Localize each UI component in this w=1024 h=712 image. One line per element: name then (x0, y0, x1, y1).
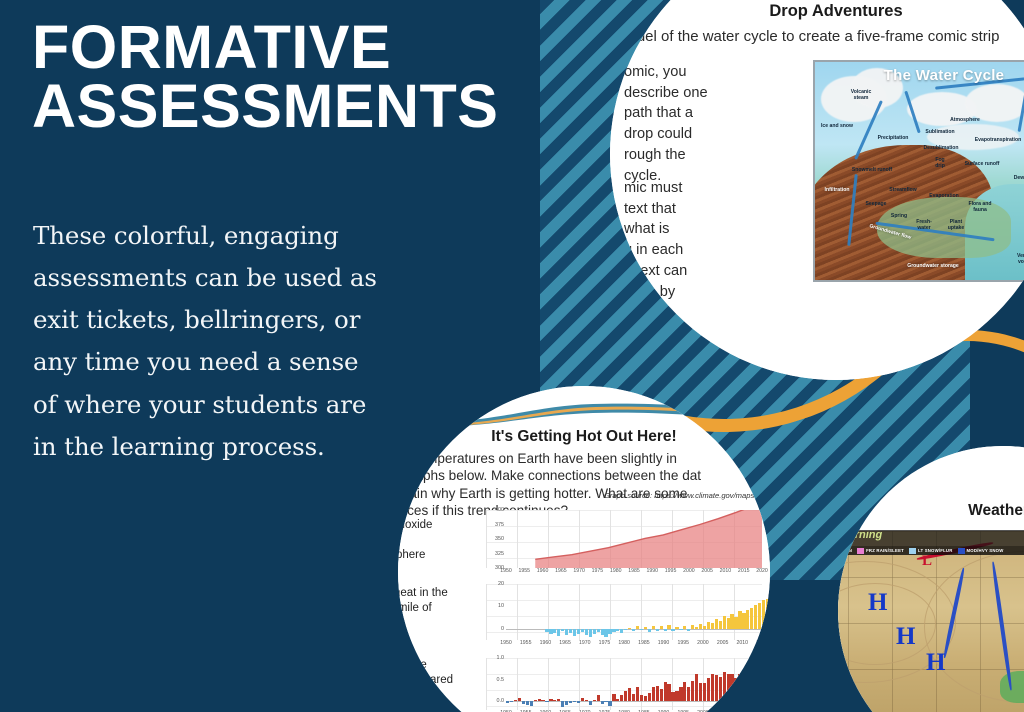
weather-map: H H H L L L orning MOD/HVY RAINFRZ RAIN/… (838, 530, 1024, 712)
bar (660, 626, 663, 628)
bar (719, 677, 722, 701)
bar (545, 701, 548, 702)
x-tick-label: 1980 (610, 568, 622, 574)
page-title-line1: FORMATIVE (32, 13, 391, 81)
bar (628, 628, 631, 629)
high-pressure-marker: H (926, 649, 945, 677)
bar (585, 700, 588, 701)
bar (750, 674, 753, 701)
label-surface-runoff: Surface runoff (961, 162, 1003, 168)
graph-source-citation: Graph source: https://www.climate.gov/ma… (604, 491, 754, 500)
bar (581, 629, 584, 633)
bar (616, 629, 619, 631)
chart-y-axis: 0.00.51.0 (486, 658, 506, 710)
bar (569, 629, 572, 633)
bar (644, 627, 647, 629)
bar (506, 701, 509, 703)
bar (577, 701, 580, 703)
bar (648, 629, 651, 632)
chart-y-axis: 300325350375400 (486, 510, 506, 568)
bar (719, 621, 722, 629)
x-tick-label: 2010 (737, 640, 749, 646)
bar (561, 629, 564, 632)
worksheet-title-weather-forecast: Weather Forecast (858, 502, 1024, 520)
worksheet-body-line: the temperatures on Earth have been slig… (398, 450, 770, 467)
bar (597, 695, 600, 701)
x-tick-label: 1975 (599, 640, 611, 646)
x-tick-label: 1985 (628, 568, 640, 574)
y-tick-label: 0.0 (497, 698, 505, 704)
bar (687, 687, 690, 702)
bar (703, 626, 706, 629)
worksheet-intro-text: model of the water cycle to create a fiv… (616, 28, 1024, 47)
label-spring: Spring (887, 214, 911, 220)
low-pressure-marker: L (922, 553, 932, 570)
bar (640, 629, 643, 630)
x-tick-label: 1950 (500, 640, 512, 646)
bar (738, 674, 741, 701)
bar (632, 694, 635, 702)
bar (734, 617, 737, 629)
label-freshwater: Fresh-water (911, 220, 937, 231)
y-tick-label: 375 (495, 522, 504, 528)
bar (593, 629, 596, 634)
bar (715, 675, 718, 701)
bar (565, 629, 568, 635)
x-tick-label: 2015 (756, 640, 768, 646)
x-tick-label: 1960 (537, 568, 549, 574)
bar (534, 700, 537, 702)
bar (656, 686, 659, 702)
page-title: FORMATIVE ASSESSMENTS (32, 18, 602, 135)
worksheet-thumbnail-weather[interactable]: Weather Forecast H H H (838, 446, 1024, 712)
bar (699, 624, 702, 629)
bar (667, 625, 670, 629)
x-tick-label: 1970 (573, 568, 585, 574)
bar (695, 627, 698, 628)
worksheet-page: It's Getting Hot Out Here! the temperatu… (398, 386, 770, 712)
bar (746, 676, 749, 701)
poster-canvas: FORMATIVE ASSESSMENTS These colorful, en… (0, 0, 1024, 712)
x-tick-label: 1955 (520, 640, 532, 646)
x-tick-label: 1995 (665, 568, 677, 574)
high-pressure-marker: H (896, 623, 915, 651)
bar (608, 701, 611, 705)
legend-label: FRZ RAIN/SLEET (866, 548, 904, 553)
legend-swatch (958, 548, 965, 554)
x-tick-label: 1980 (618, 640, 630, 646)
chart-ocean-heat-content: 01020 1950195519601965197019751980198519… (486, 584, 762, 640)
label-atmosphere: Atmosphere (943, 118, 987, 124)
area-series (506, 510, 762, 568)
bar (620, 629, 623, 633)
bar (671, 692, 674, 702)
legend-label: LT SNOW/FLUR (918, 548, 953, 553)
bar (608, 629, 611, 634)
legend-label: MOD/HVY RAIN (838, 548, 852, 553)
bar (699, 683, 702, 701)
worksheet-title-getting-hot: It's Getting Hot Out Here! (398, 428, 770, 446)
worksheet-thumbnail-climate[interactable]: It's Getting Hot Out Here! the temperatu… (398, 386, 770, 712)
water-cycle-diagram-title: The Water Cycle (815, 67, 1024, 84)
intro-paragraph: These colorful, engaging assessments can… (33, 215, 383, 468)
label-vents-and-volcanos: Vents and volcanos (1011, 254, 1024, 265)
x-tick-label: 2015 (738, 568, 750, 574)
bar (758, 669, 761, 701)
bar (754, 673, 757, 702)
bar (581, 698, 584, 701)
bar (742, 671, 745, 701)
chart-co2-concentration: 300325350375400 195019551960196519701975… (486, 510, 762, 568)
y-tick-label: 400 (495, 507, 504, 513)
bar (577, 629, 580, 634)
bar (601, 701, 604, 704)
bar (683, 626, 686, 629)
x-tick-label: 2010 (720, 568, 732, 574)
chart-plot-area (506, 510, 762, 568)
x-tick-label: 1985 (638, 640, 650, 646)
x-tick-label: 2020 (756, 568, 768, 574)
bar (573, 629, 576, 637)
chart-y-axis: 01020 (486, 584, 506, 640)
x-tick-label: 2000 (683, 568, 695, 574)
bar (660, 689, 663, 701)
legend-item: MOD/HVY SNOW (958, 548, 1004, 554)
bar (664, 629, 667, 631)
x-tick-label: 1990 (647, 568, 659, 574)
bar (766, 658, 769, 701)
bar (557, 629, 560, 636)
bar (565, 701, 568, 704)
bar (569, 701, 572, 702)
bar (679, 629, 682, 630)
bar (675, 627, 678, 629)
bar (730, 614, 733, 628)
label-dew: Dew (1011, 176, 1024, 182)
bar (553, 629, 556, 633)
legend-swatch (857, 548, 864, 554)
bar (620, 695, 623, 702)
y-tick-label: 0.5 (497, 677, 505, 683)
bar (656, 629, 659, 631)
bar (514, 700, 517, 701)
label-sublimation: Sublimation (923, 130, 957, 136)
bar (573, 701, 576, 702)
x-tick-label: 2000 (697, 640, 709, 646)
bar (601, 629, 604, 635)
water-cycle-diagram: The Water Cycle Volcanic steam Ice and s… (813, 60, 1024, 282)
bar (530, 701, 533, 705)
chart-x-axis: 1950195519601965197019751980198519901995… (506, 640, 762, 649)
bar (624, 691, 627, 702)
label-flora-and-fauna: Flora and fauna (963, 202, 997, 213)
bar (723, 616, 726, 629)
bar (691, 625, 694, 629)
bar (727, 674, 730, 701)
bar (711, 623, 714, 629)
bar (597, 629, 600, 632)
bar (585, 629, 588, 635)
worksheet-column-text-1: omic, you describe one path that a drop … (624, 62, 774, 186)
bar (553, 700, 556, 702)
bar (616, 699, 619, 702)
bar (640, 695, 643, 701)
bar (549, 629, 552, 635)
worksheet-title-drop-adventures: Drop Adventures (610, 2, 1024, 21)
bar (762, 600, 765, 629)
bar (707, 678, 710, 701)
x-tick-label: 1950 (500, 568, 512, 574)
bar (723, 672, 726, 701)
bar (632, 629, 635, 631)
worksheet-page: Weather Forecast H H H (838, 446, 1024, 712)
map-legend: MOD/HVY RAINFRZ RAIN/SLEETLT SNOW/FLURMO… (838, 546, 1024, 555)
label-groundwater-storage: Groundwater storage (893, 264, 973, 270)
x-tick-label: 1955 (519, 568, 531, 574)
label-seepage: Seepage (863, 202, 889, 208)
label-infiltration: Infiltration (817, 188, 857, 194)
bar (652, 687, 655, 701)
bar (734, 678, 737, 701)
chart-temperature-anomaly: 0.00.51.0 195019551960196519701975198019… (486, 658, 762, 710)
bar (762, 662, 765, 701)
worksheet-page: Drop Adventures model of the water cycle… (610, 0, 1024, 380)
bar (510, 701, 513, 702)
x-tick-label: 1975 (592, 568, 604, 574)
bar (679, 687, 682, 701)
chart-plot-area (506, 658, 762, 710)
bar (727, 618, 730, 629)
bar (671, 629, 674, 632)
x-tick-label: 1965 (559, 640, 571, 646)
label-evapotranspiration: Evapotranspiration (971, 138, 1024, 144)
bar (648, 693, 651, 702)
bar (538, 699, 541, 702)
y-tick-label: 20 (498, 581, 504, 587)
bar (707, 622, 710, 629)
bar (518, 698, 521, 701)
x-tick-label: 2005 (717, 640, 729, 646)
bar (612, 629, 615, 632)
worksheet-thumbnail-water-cycle[interactable]: Drop Adventures model of the water cycle… (610, 0, 1024, 380)
bar (730, 674, 733, 702)
bar (636, 626, 639, 629)
legend-label: MOD/HVY SNOW (967, 548, 1004, 553)
bar (604, 629, 607, 638)
bar (703, 683, 706, 701)
bar (589, 629, 592, 637)
bar (652, 626, 655, 629)
bar (742, 613, 745, 628)
bar (593, 700, 596, 701)
precipitation-area (1000, 671, 1024, 703)
chart-plot-area (506, 584, 762, 640)
worksheet-header-swoosh (398, 394, 770, 428)
x-tick-label: 1965 (555, 568, 567, 574)
legend-item: MOD/HVY RAIN (838, 548, 852, 554)
legend-item: FRZ RAIN/SLEET (857, 548, 904, 554)
bar (695, 674, 698, 701)
bar (664, 682, 667, 701)
y-tick-label: 325 (495, 551, 504, 557)
page-title-line2: ASSESSMENTS (32, 77, 602, 136)
label-plant-uptake: Plant uptake (943, 220, 969, 231)
bar (589, 701, 592, 704)
label-precipitation: Precipitation (869, 136, 917, 142)
x-tick-label: 2005 (701, 568, 713, 574)
low-pressure-marker: L (838, 683, 842, 700)
bar (545, 629, 548, 632)
label-volcanic-steam: Volcanic steam (843, 90, 879, 101)
bar (691, 681, 694, 702)
label-desublimation: Desublimation (921, 146, 961, 152)
bar (644, 696, 647, 701)
bar (628, 688, 631, 701)
y-tick-label: 0 (501, 626, 504, 632)
x-tick-label: 1990 (658, 640, 670, 646)
legend-item: LT SNOW/FLUR (909, 548, 953, 554)
y-tick-label: 1.0 (497, 655, 505, 661)
label-fog-drip: Fog drip (931, 158, 949, 169)
high-pressure-marker: H (868, 589, 887, 617)
bar (758, 603, 761, 629)
bar (526, 701, 529, 704)
bar (683, 682, 686, 702)
bar (636, 687, 639, 701)
bar (549, 699, 552, 702)
bar (711, 674, 714, 701)
chart-x-axis: 1950195519601965197019751980198519901995… (506, 568, 762, 577)
map-timeframe-label: orning (848, 530, 882, 541)
y-tick-label: 350 (495, 536, 504, 542)
x-tick-label: 1995 (677, 640, 689, 646)
y-tick-label: 10 (498, 603, 504, 609)
bar (557, 699, 560, 702)
bar (738, 611, 741, 628)
worksheet-body-line: e graphs below. Make connections between… (398, 467, 770, 484)
bar (561, 701, 564, 707)
bar (624, 629, 627, 630)
label-streamflow: Streamflow (881, 188, 925, 194)
worksheet-column-text-2: mic must text that what is g in each e t… (624, 178, 784, 344)
bar (522, 701, 525, 704)
bar (766, 599, 769, 629)
bar (754, 605, 757, 629)
legend-swatch (909, 548, 916, 554)
label-ice-and-snow: Ice and snow (821, 124, 853, 130)
label-snowmelt-runoff: Snowmelt runoff (843, 168, 901, 174)
bar (746, 610, 749, 629)
label-evaporation-2: Evaporation (927, 194, 961, 200)
bar (715, 619, 718, 628)
x-tick-label: 1970 (579, 640, 591, 646)
bar (687, 629, 690, 631)
bar (667, 684, 670, 701)
x-tick-label: 1960 (540, 640, 552, 646)
bar (750, 608, 753, 629)
bar (675, 691, 678, 702)
bar (541, 700, 544, 701)
bar (612, 694, 615, 701)
